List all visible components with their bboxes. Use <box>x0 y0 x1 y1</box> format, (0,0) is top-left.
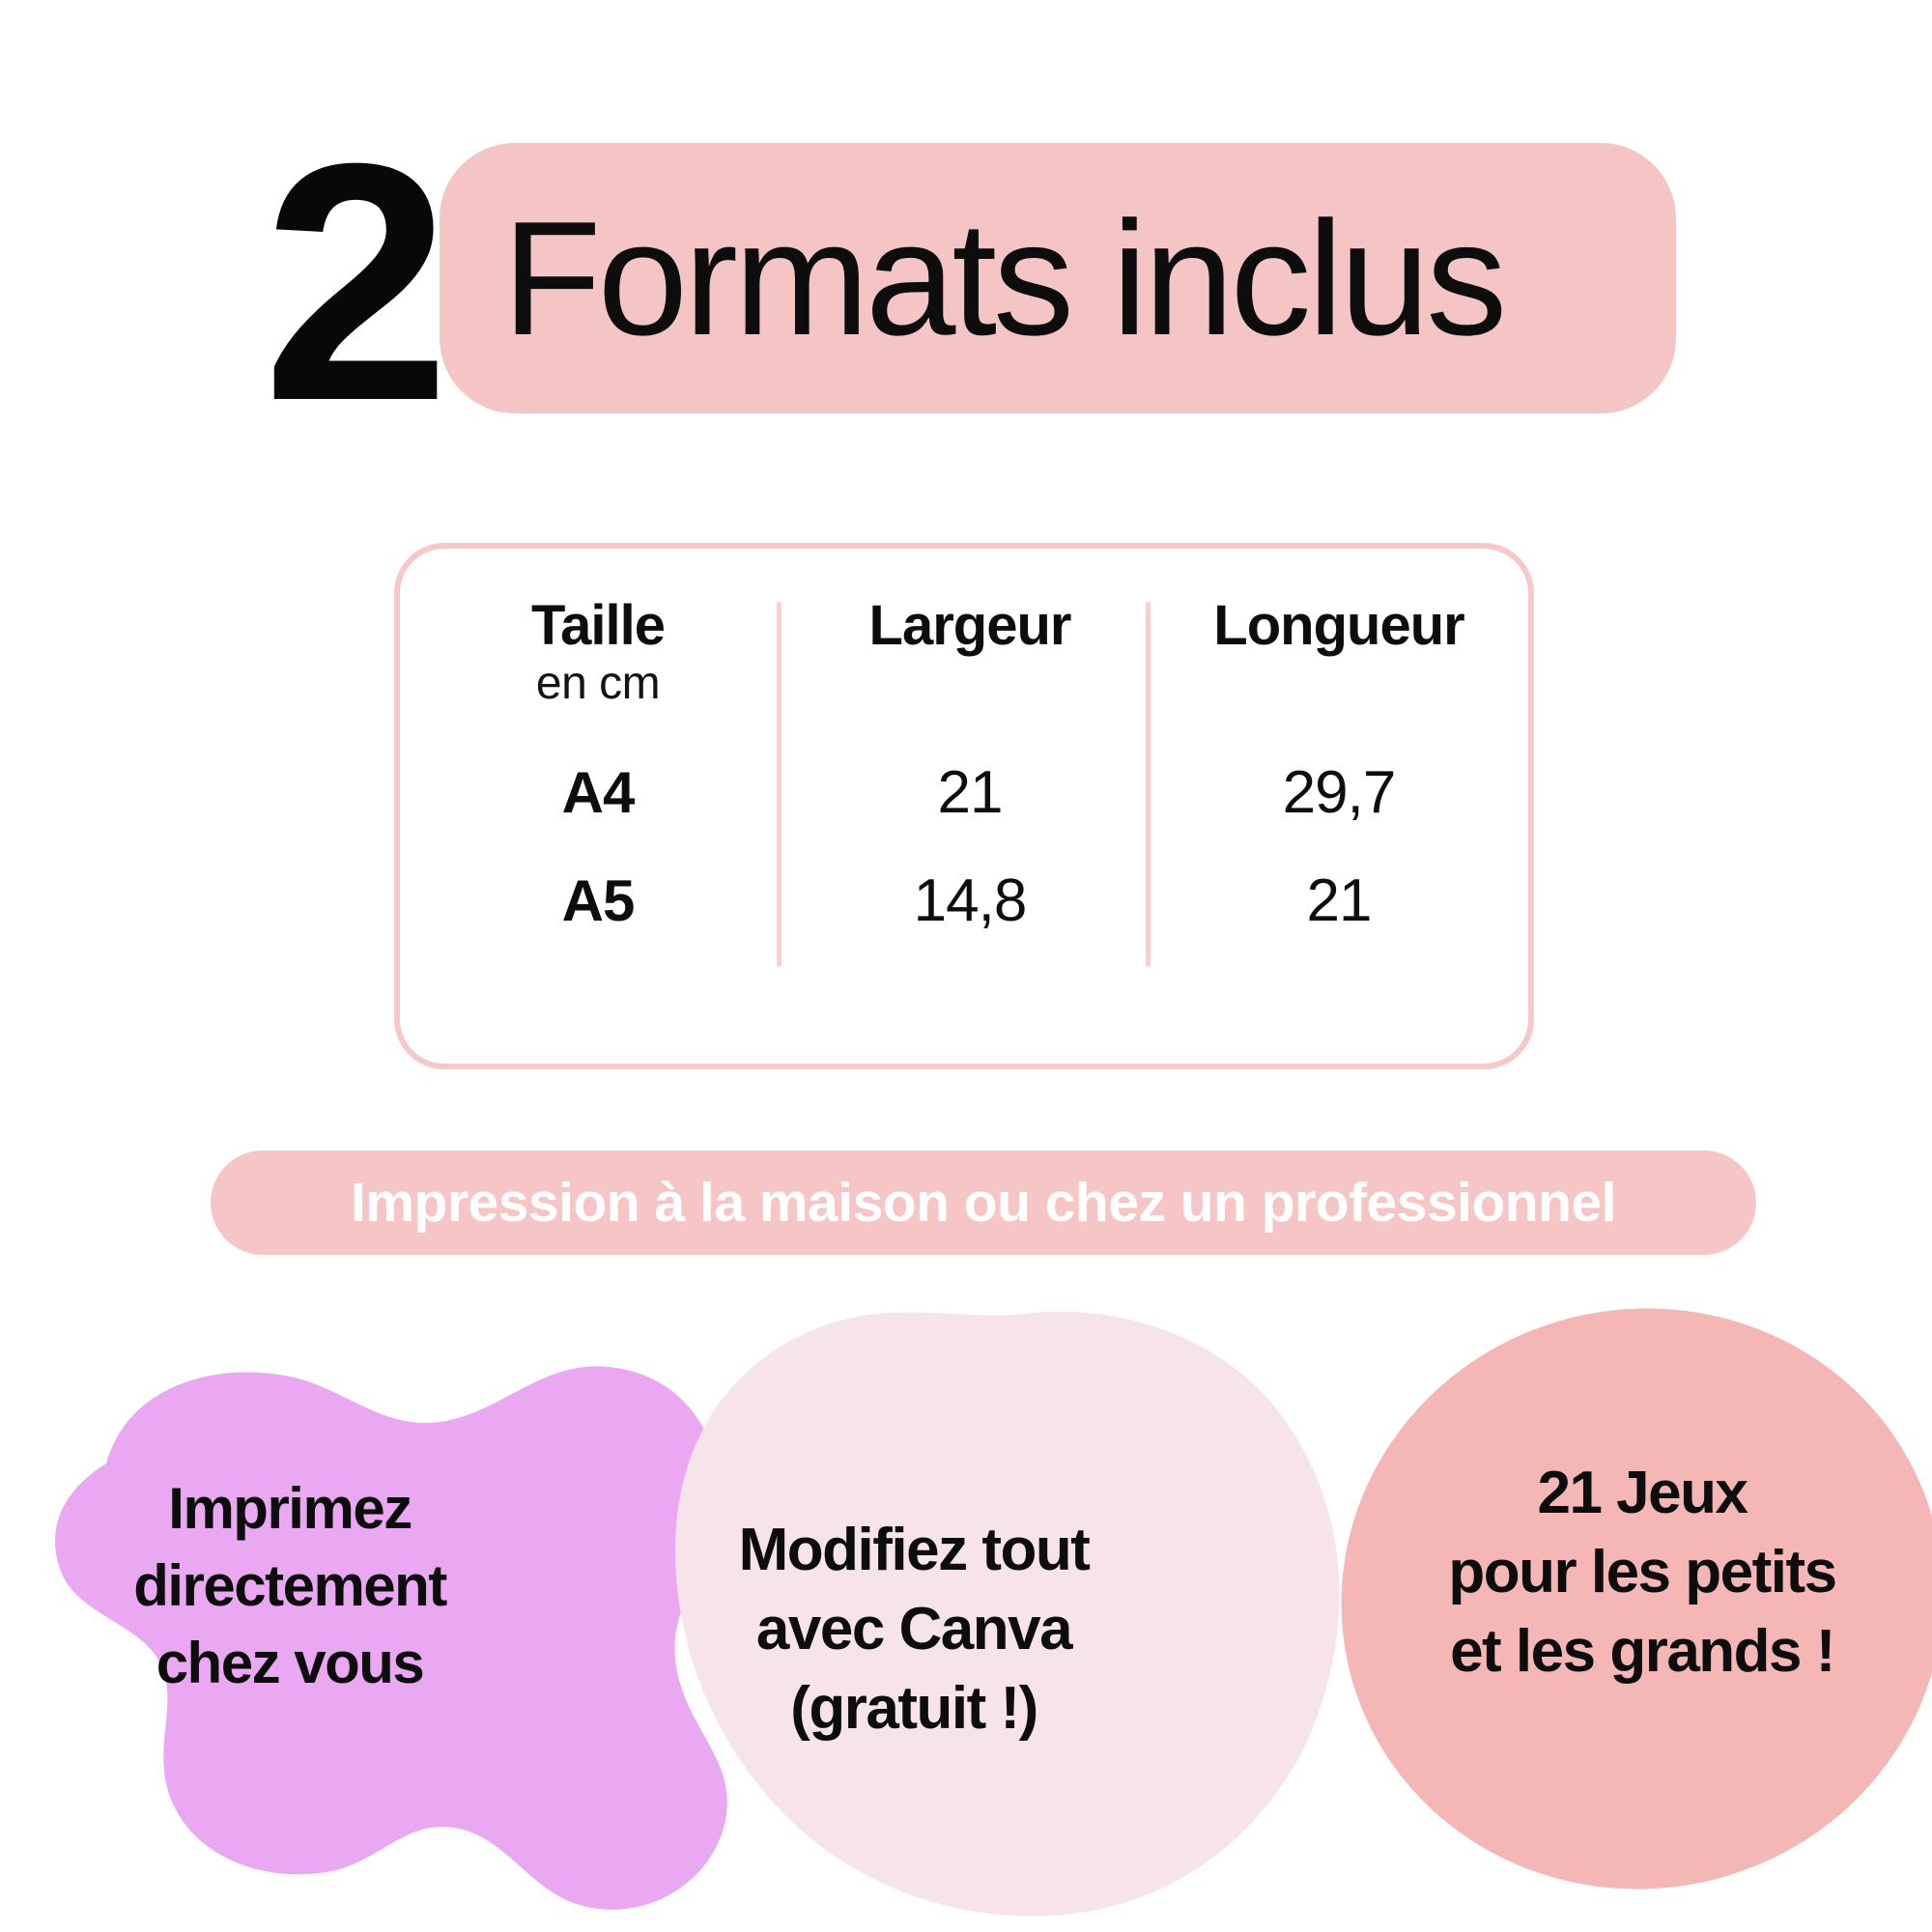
subtitle-banner-text: Impression à la maison ou chez un profes… <box>211 1151 1756 1255</box>
table-column-largeur: Largeur 21 14,8 <box>786 549 1153 1064</box>
column-header-taille: Taille <box>419 595 777 657</box>
feature-blobs-section: Imprimez directement chez vous Modifiez … <box>0 1285 1932 1932</box>
blob-label-games-count-line-2: pour les petits <box>1372 1533 1913 1612</box>
blob-label-edit-with-canva-line-2: avec Canva <box>653 1590 1175 1669</box>
blob-label-edit-with-canva: Modifiez tout avec Canva (gratuit !) <box>653 1511 1175 1748</box>
blob-label-games-count-line-1: 21 Jeux <box>1372 1454 1913 1533</box>
table-cell-largeur-a4: 21 <box>786 759 1153 827</box>
blob-label-games-count-line-3: et les grands ! <box>1372 1612 1913 1691</box>
blob-label-print-at-home-line-2: directement <box>58 1548 522 1625</box>
table-cell-taille-a4: A4 <box>419 759 777 827</box>
table-cell-longueur-a4: 29,7 <box>1155 759 1522 827</box>
page-title: Formats inclus <box>502 162 1642 394</box>
table-column-taille: Taille en cm A4 A5 <box>419 549 777 1064</box>
blob-label-print-at-home: Imprimez directement chez vous <box>58 1470 522 1702</box>
table-column-longueur: Longueur 29,7 21 <box>1155 549 1522 1064</box>
table-cell-largeur-a5: 14,8 <box>786 867 1153 935</box>
table-cell-longueur-a5: 21 <box>1155 867 1522 935</box>
blob-label-print-at-home-line-3: chez vous <box>58 1625 522 1702</box>
column-header-largeur: Largeur <box>786 595 1153 657</box>
blob-label-games-count: 21 Jeux pour les petits et les grands ! <box>1372 1454 1913 1691</box>
column-subheader-taille: en cm <box>419 657 777 711</box>
formats-table: Taille en cm A4 A5 Largeur 21 14,8 Longu… <box>400 549 1528 1064</box>
header-section: 2 Formats inclus <box>0 0 1932 454</box>
blob-label-edit-with-canva-line-1: Modifiez tout <box>653 1511 1175 1590</box>
column-header-longueur: Longueur <box>1155 595 1522 657</box>
subtitle-banner: Impression à la maison ou chez un profes… <box>211 1151 1756 1255</box>
table-cell-taille-a5: A5 <box>419 867 777 935</box>
formats-table-card: Taille en cm A4 A5 Largeur 21 14,8 Longu… <box>394 543 1534 1069</box>
blob-label-edit-with-canva-line-3: (gratuit !) <box>653 1669 1175 1748</box>
table-column-divider-1 <box>777 602 781 967</box>
step-number: 2 <box>235 124 467 442</box>
blob-label-print-at-home-line-1: Imprimez <box>58 1470 522 1548</box>
